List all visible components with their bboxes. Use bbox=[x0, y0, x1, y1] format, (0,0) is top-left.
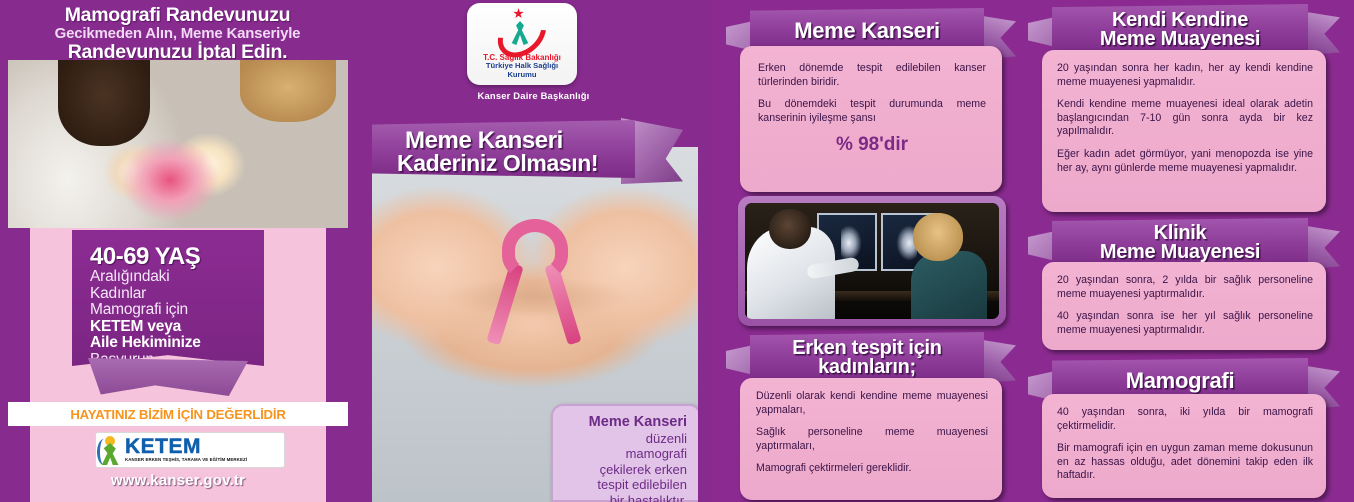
middle-right-edge bbox=[698, 0, 712, 502]
right-panel: Meme Kanseri Erken dönemde tespit edileb… bbox=[712, 0, 1354, 502]
department-caption: Kanser Daire Başkanlığı bbox=[355, 90, 712, 101]
card-title-line2: kadınların; bbox=[818, 356, 916, 378]
age-range-value: 40-69 YAŞ bbox=[90, 244, 264, 269]
card-paragraph: 20 yaşından sonra, 2 yılda bir sağlık pe… bbox=[1057, 274, 1313, 301]
slogan-text: HAYATINIZ BİZİM İÇİN DEĞERLİDİR bbox=[70, 407, 285, 422]
footer-right-strip bbox=[326, 426, 348, 502]
card-paragraph: Kendi kendine meme muayenesi ideal olara… bbox=[1057, 98, 1313, 139]
card-title-line2: Meme Muayenesi bbox=[1100, 28, 1260, 50]
footer-left-strip bbox=[8, 426, 30, 502]
card-paragraph: Mamografi çektirmeleri gereklidir. bbox=[756, 462, 988, 476]
left-margin-strip bbox=[8, 228, 30, 402]
ketem-wordmark: KETEM bbox=[125, 437, 281, 457]
card-paragraph: 20 yaşından sonra her kadın, her ay kend… bbox=[1057, 62, 1313, 89]
callout-line-4: KETEM veya bbox=[90, 319, 264, 336]
card-paragraph: Sağlık personeline meme muayenesi yaptır… bbox=[756, 426, 988, 453]
card-body: 20 yaşından sonra, 2 yılda bir sağlık pe… bbox=[1042, 262, 1326, 350]
middle-box-heading: Meme Kanseri bbox=[563, 414, 687, 431]
middle-box-line5: bir hastalıktır. bbox=[563, 493, 687, 502]
right-margin-strip bbox=[326, 228, 348, 402]
ketem-subtitle: KANSER ERKEN TEŞHİS, TARAMA VE EĞİTİM ME… bbox=[125, 457, 281, 462]
photo-person-left-hair bbox=[58, 60, 150, 146]
callout-line-3: Mamografi için bbox=[90, 302, 264, 319]
mammogram-image-right bbox=[887, 223, 917, 263]
photo-inner bbox=[745, 203, 999, 319]
card-paragraph: Erken dönemde tespit edilebilen kanser t… bbox=[758, 62, 986, 89]
card-body: 40 yaşından sonra, iki yılda bir mamogra… bbox=[1042, 394, 1326, 498]
card-header: Erken tespit için kadınların; bbox=[750, 332, 984, 384]
card-header: Klinik Meme Muayenesi bbox=[1052, 218, 1308, 268]
left-header-line3: Randevunuzu İptal Edin. bbox=[0, 42, 355, 62]
card-paragraph: 40 yaşından sonra, iki yılda bir mamogra… bbox=[1057, 406, 1313, 433]
middle-info-box: Meme Kanseri düzenli mamografi çekilerek… bbox=[551, 404, 701, 502]
callout-line-5: Aile Hekiminize bbox=[90, 335, 264, 352]
card-paragraph: Eğer kadın adet görmüyor, yani menopozda… bbox=[1057, 148, 1313, 175]
card-paragraph: Bu dönemdeki tespit durumunda meme kanse… bbox=[758, 98, 986, 125]
age-range-callout: 40-69 YAŞ Aralığındaki Kadınlar Mamograf… bbox=[72, 230, 264, 366]
survival-rate-value: % 98'dir bbox=[758, 134, 986, 156]
card-erken-tespit: Erken tespit için kadınların; Düzenli ol… bbox=[726, 332, 1016, 500]
card-mamografi: Mamografi 40 yaşından sonra, iki yılda b… bbox=[1028, 358, 1340, 498]
card-klinik-meme-muayenesi: Klinik Meme Muayenesi 20 yaşından sonra,… bbox=[1028, 218, 1340, 350]
left-header-line1: Mamografi Randevunuzu bbox=[0, 5, 355, 25]
middle-box-line3: çekilerek erken bbox=[563, 462, 687, 477]
slogan-bar: HAYATINIZ BİZİM İÇİN DEĞERLİDİR bbox=[8, 402, 348, 426]
card-title: Klinik Meme Muayenesi bbox=[1100, 224, 1260, 262]
ministry-line3: Kurumu bbox=[467, 71, 577, 80]
banner-line2: Kaderiniz Olmasın! bbox=[397, 150, 598, 177]
mammogram-image-left bbox=[841, 223, 871, 263]
card-header: Kendi Kendine Meme Muayenesi bbox=[1052, 4, 1308, 56]
left-header-line2: Gecikmeden Alın, Meme Kanseriyle bbox=[0, 25, 355, 42]
couple-with-flowers-photo bbox=[8, 60, 348, 228]
ribbon-loop bbox=[502, 219, 568, 281]
card-title-line2: Meme Muayenesi bbox=[1100, 241, 1260, 263]
middle-box-line1: düzenli bbox=[563, 431, 687, 446]
ketem-logo: KETEM KANSER ERKEN TEŞHİS, TARAMA VE EĞİ… bbox=[95, 432, 285, 468]
card-title: Erken tespit için kadınların; bbox=[792, 339, 941, 377]
middle-left-edge bbox=[355, 0, 372, 502]
photo-person-right-hair bbox=[240, 60, 336, 122]
card-paragraph: Bir mamografi için en uygun zaman meme d… bbox=[1057, 442, 1313, 483]
card-kendi-kendine-meme-muayenesi: Kendi Kendine Meme Muayenesi 20 yaşından… bbox=[1028, 4, 1340, 212]
card-paragraph: Düzenli olarak kendi kendine meme muayen… bbox=[756, 390, 988, 417]
card-title: Mamografi bbox=[1126, 371, 1235, 390]
card-header-wrap: Kendi Kendine Meme Muayenesi bbox=[1028, 4, 1340, 50]
card-body: 20 yaşından sonra her kadın, her ay kend… bbox=[1042, 50, 1326, 212]
card-body: Erken dönemde tespit edilebilen kanser t… bbox=[740, 46, 1002, 192]
clinic-mammogram-photo bbox=[738, 196, 1006, 326]
ministry-of-health-logo: T.C. Sağlık Bakanlığı Türkiye Halk Sağlı… bbox=[467, 3, 577, 85]
middle-box-line2: mamografi bbox=[563, 446, 687, 461]
doctor-head bbox=[769, 209, 811, 249]
card-title: Meme Kanseri bbox=[794, 21, 940, 40]
card-title: Kendi Kendine Meme Muayenesi bbox=[1100, 11, 1260, 49]
callout-line-2: Kadınlar bbox=[90, 286, 264, 303]
website-url[interactable]: www.kanser.gov.tr bbox=[8, 472, 348, 489]
patient-body bbox=[911, 251, 987, 319]
middle-panel: T.C. Sağlık Bakanlığı Türkiye Halk Sağlı… bbox=[355, 0, 712, 502]
card-header-wrap: Klinik Meme Muayenesi bbox=[1028, 218, 1340, 264]
card-paragraph: 40 yaşından sonra ise her yıl sağlık per… bbox=[1057, 310, 1313, 337]
card-header-wrap: Erken tespit için kadınların; bbox=[726, 332, 1016, 378]
card-meme-kanseri: Meme Kanseri Erken dönemde tespit edileb… bbox=[726, 8, 1016, 192]
middle-box-line4: tespit edilebilen bbox=[563, 477, 687, 492]
poster-canvas: Mamografi Randevunuzu Gecikmeden Alın, M… bbox=[0, 0, 1354, 502]
callout-line-1: Aralığındaki bbox=[90, 269, 264, 286]
card-body: Düzenli olarak kendi kendine meme muayen… bbox=[740, 378, 1002, 500]
pink-ribbon-icon bbox=[480, 219, 590, 349]
middle-banner: Meme Kanseri Kaderiniz Olmasın! bbox=[367, 120, 639, 180]
left-panel: Mamografi Randevunuzu Gecikmeden Alın, M… bbox=[0, 0, 355, 502]
patient-head bbox=[913, 213, 963, 261]
left-header: Mamografi Randevunuzu Gecikmeden Alın, M… bbox=[0, 0, 355, 60]
